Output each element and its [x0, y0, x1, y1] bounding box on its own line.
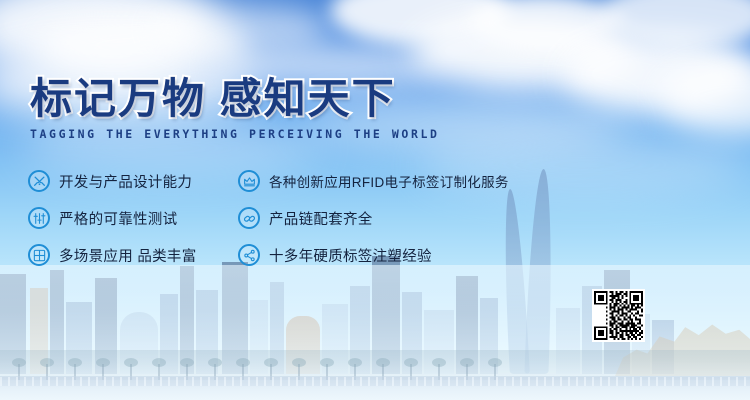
feature-item-reliability-test: 严格的可靠性测试 [28, 207, 238, 229]
feature-item-development: 开发与产品设计能力 [28, 170, 238, 192]
tools-icon [28, 170, 50, 192]
feature-item-product-chain: 产品链配套齐全 [238, 207, 588, 229]
feature-label: 多场景应用 品类丰富 [59, 245, 197, 266]
page-subtitle: TAGGING THE EVERYTHING PERCEIVING THE WO… [30, 127, 440, 141]
feature-label: 开发与产品设计能力 [59, 171, 192, 192]
feature-item-molding-experience: 十多年硬质标签注塑经验 [238, 244, 588, 266]
feature-label: 十多年硬质标签注塑经验 [269, 245, 432, 266]
sliders-icon [28, 207, 50, 229]
promotional-banner: 标记万物 感知天下 TAGGING THE EVERYTHING PERCEIV… [0, 0, 750, 400]
feature-item-rfid-service: 各种创新应用RFID电子标签订制化服务 [238, 170, 588, 192]
crown-icon [238, 170, 260, 192]
link-icon [238, 207, 260, 229]
feature-list: 开发与产品设计能力 各种创新应用RFID电子标签订制化服务 [28, 170, 588, 281]
qr-code[interactable] [592, 289, 645, 342]
feature-label: 严格的可靠性测试 [59, 208, 177, 229]
share-icon [238, 244, 260, 266]
banner-headline-group: 标记万物 感知天下 TAGGING THE EVERYTHING PERCEIV… [30, 78, 440, 141]
feature-row: 多场景应用 品类丰富 十多年硬质标签注塑经验 [28, 244, 588, 281]
feature-label: 各种创新应用RFID电子标签订制化服务 [269, 171, 509, 191]
feature-item-multi-scenario: 多场景应用 品类丰富 [28, 244, 238, 266]
feature-label: 产品链配套齐全 [269, 208, 373, 229]
feature-row: 严格的可靠性测试 产品链配套齐全 [28, 207, 588, 244]
grid-icon [28, 244, 50, 266]
page-title: 标记万物 感知天下 [30, 78, 440, 120]
feature-row: 开发与产品设计能力 各种创新应用RFID电子标签订制化服务 [28, 170, 588, 207]
